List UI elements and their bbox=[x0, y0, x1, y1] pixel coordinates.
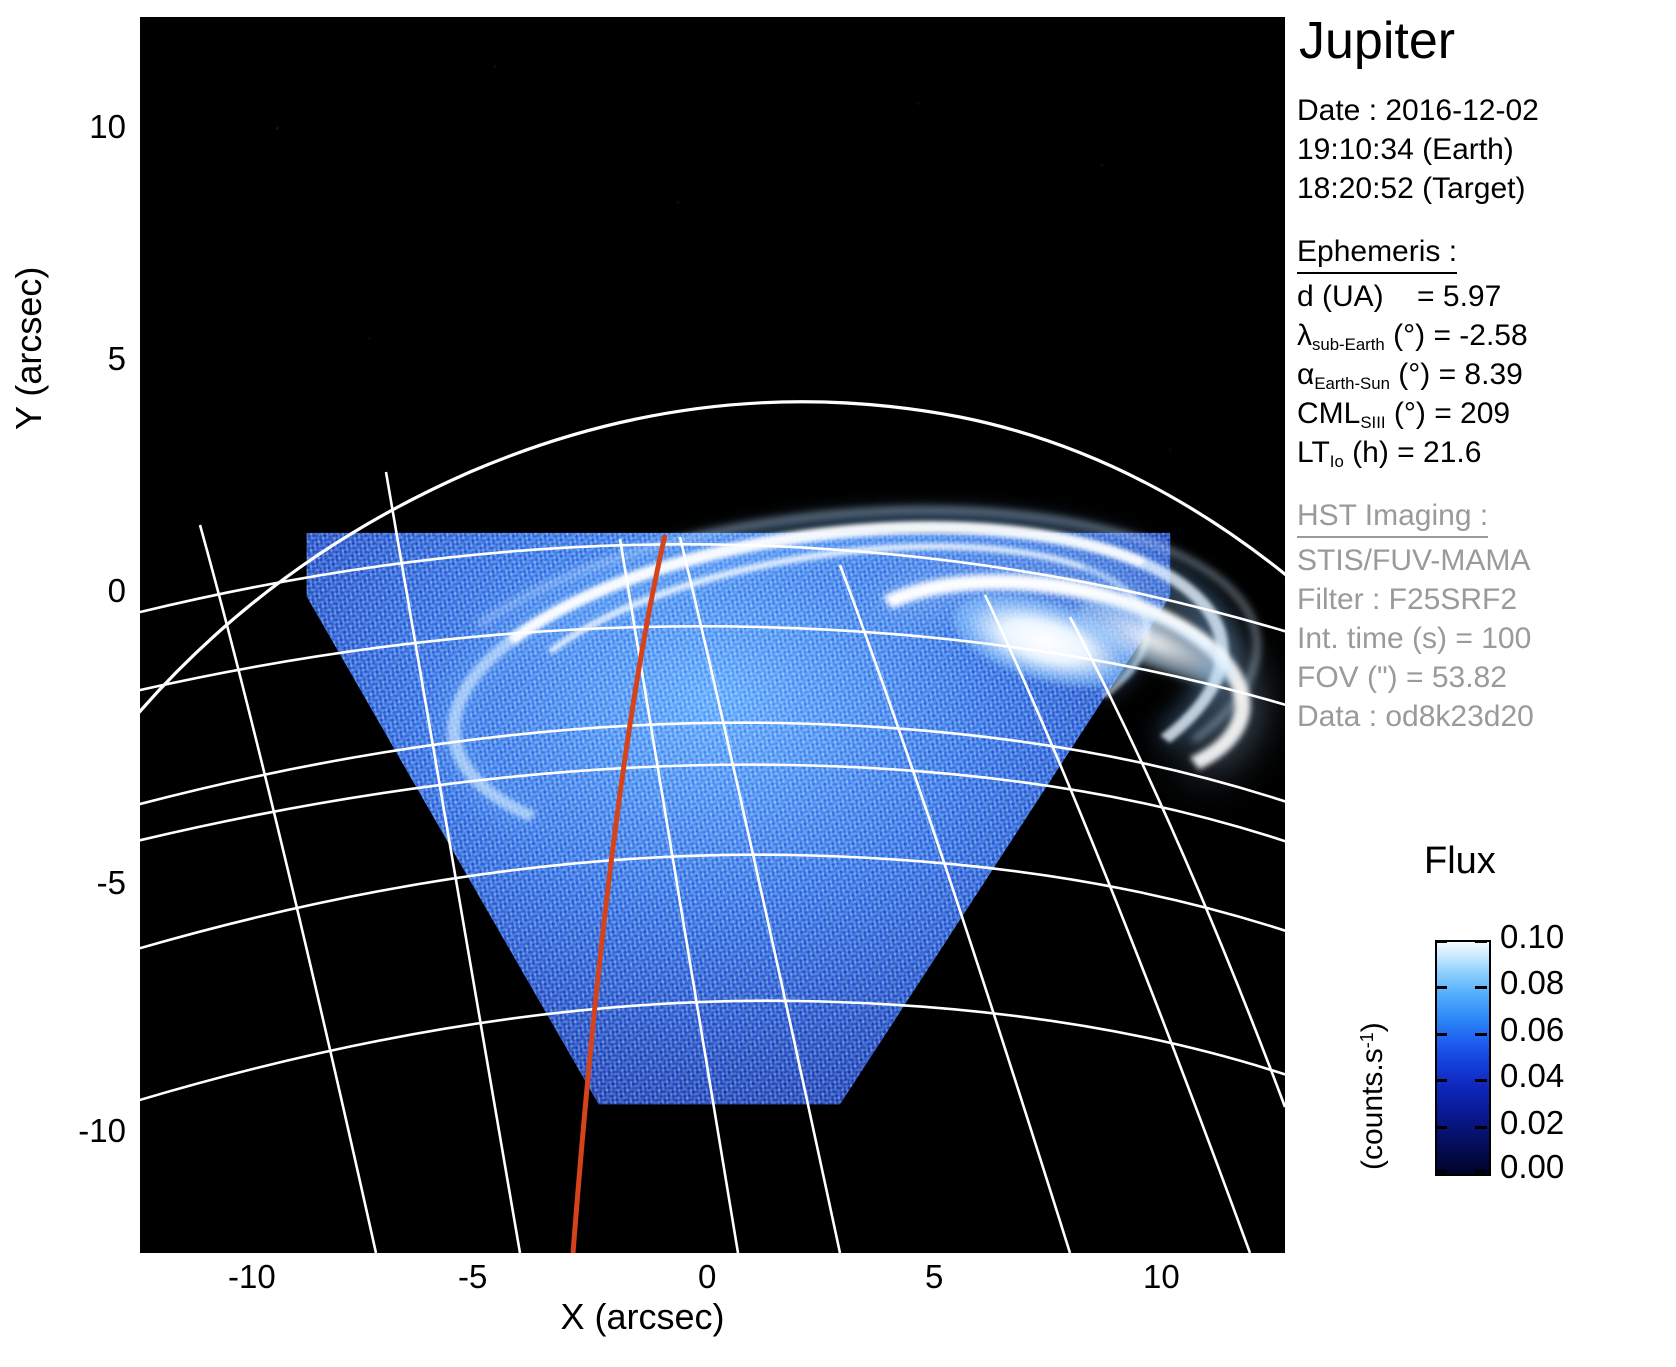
colorbar-tick-0.00: 0.00 bbox=[1500, 1148, 1564, 1186]
observation-time-target: 18:20:52 (Target) bbox=[1297, 169, 1676, 208]
lambda-value: = -2.58 bbox=[1433, 319, 1527, 352]
alpha-unit: (°) bbox=[1398, 358, 1430, 391]
colorbar-unit-prefix: (counts.s bbox=[1356, 1048, 1389, 1170]
flux-colorbar bbox=[1435, 940, 1491, 1176]
colorbar-unit-exponent: -1 bbox=[1357, 1032, 1377, 1048]
longitude-line-6 bbox=[985, 595, 1250, 1253]
alpha-subscript: Earth-Sun bbox=[1314, 374, 1390, 393]
longitude-line-7 bbox=[1070, 617, 1285, 1107]
instrument-fov: FOV (") = 53.82 bbox=[1297, 658, 1676, 697]
x-axis-title: X (arcsec) bbox=[0, 1296, 1285, 1338]
cml-subscript: SIII bbox=[1360, 413, 1385, 432]
instrument-dataset-id: Data : od8k23d20 bbox=[1297, 697, 1676, 736]
cml-value: = 209 bbox=[1434, 397, 1510, 430]
y-tick-label-m10: -10 bbox=[78, 1112, 126, 1150]
instrument-integration-time: Int. time (s) = 100 bbox=[1297, 619, 1676, 658]
latitude-longitude-graticule bbox=[140, 17, 1285, 1253]
ephemeris-cml: CMLSIII (°) = 209 bbox=[1297, 394, 1676, 433]
alpha-symbol: α bbox=[1297, 358, 1314, 391]
y-tick-label-0: 0 bbox=[108, 572, 126, 610]
latitude-line-6 bbox=[140, 765, 1285, 857]
colorbar-tick-0.02: 0.02 bbox=[1500, 1104, 1564, 1142]
y-tick-label-m5: -5 bbox=[97, 864, 126, 902]
planet-limb bbox=[140, 402, 1285, 787]
alpha-value: = 8.39 bbox=[1439, 358, 1523, 391]
colorbar-title: Flux bbox=[1424, 840, 1496, 883]
ephemeris-distance: d (UA) = 5.97 bbox=[1297, 277, 1676, 316]
colorbar-unit-label: (counts.s-1) bbox=[1356, 1022, 1390, 1170]
lt-unit: (h) bbox=[1352, 436, 1389, 469]
x-tick-label-0: 0 bbox=[698, 1258, 716, 1296]
ephemeris-distance-value: = 5.97 bbox=[1417, 280, 1501, 313]
longitude-line-3 bbox=[620, 539, 738, 1253]
ephemeris-distance-label: d (UA) bbox=[1297, 280, 1384, 313]
cml-unit: (°) bbox=[1394, 397, 1426, 430]
colorbar-tick-0.10: 0.10 bbox=[1500, 918, 1564, 956]
y-tick-label-5: 5 bbox=[108, 340, 126, 378]
lambda-subscript: sub-Earth bbox=[1312, 335, 1385, 354]
longitude-line-5 bbox=[840, 565, 1070, 1253]
colorbar-tick-0.04: 0.04 bbox=[1500, 1057, 1564, 1095]
ephemeris-phase-angle: αEarth-Sun (°) = 8.39 bbox=[1297, 355, 1676, 394]
lt-label: LT bbox=[1297, 436, 1330, 469]
observation-info-panel: Jupiter Date : 2016-12-02 19:10:34 (Eart… bbox=[1297, 14, 1676, 736]
ephemeris-sub-earth-latitude: λsub-Earth (°) = -2.58 bbox=[1297, 316, 1676, 355]
instrument-filter: Filter : F25SRF2 bbox=[1297, 580, 1676, 619]
lt-subscript: Io bbox=[1330, 452, 1344, 471]
latitude-line-4 bbox=[140, 855, 1285, 957]
lambda-symbol: λ bbox=[1297, 319, 1312, 352]
aurora-image-panel bbox=[140, 17, 1285, 1253]
colorbar-tick-0.06: 0.06 bbox=[1500, 1011, 1564, 1049]
observation-date: Date : 2016-12-02 bbox=[1297, 91, 1676, 130]
latitude-line-3 bbox=[140, 723, 1285, 817]
y-axis-title: Y (arcsec) bbox=[8, 267, 50, 430]
x-tick-label-5: 5 bbox=[925, 1258, 943, 1296]
x-tick-label-m5: -5 bbox=[458, 1258, 487, 1296]
observation-time-earth: 19:10:34 (Earth) bbox=[1297, 130, 1676, 169]
ephemeris-io-local-time: LTIo (h) = 21.6 bbox=[1297, 433, 1676, 472]
ephemeris-heading: Ephemeris : bbox=[1297, 232, 1457, 274]
lambda-unit: (°) bbox=[1393, 319, 1425, 352]
longitude-line-2 bbox=[386, 472, 520, 1253]
colorbar-tick-0.08: 0.08 bbox=[1500, 964, 1564, 1002]
cml-label: CML bbox=[1297, 397, 1360, 430]
target-title: Jupiter bbox=[1299, 14, 1676, 69]
x-tick-label-10: 10 bbox=[1143, 1258, 1180, 1296]
colorbar-unit-suffix: ) bbox=[1356, 1022, 1389, 1032]
x-tick-label-m10: -10 bbox=[228, 1258, 276, 1296]
longitude-line-4 bbox=[680, 537, 840, 1253]
io-footprint-track bbox=[573, 535, 665, 1253]
instrument-detector: STIS/FUV-MAMA bbox=[1297, 541, 1676, 580]
instrument-heading: HST Imaging : bbox=[1297, 496, 1488, 538]
lt-value: = 21.6 bbox=[1397, 436, 1481, 469]
y-tick-label-10: 10 bbox=[89, 108, 126, 146]
longitude-line-1 bbox=[200, 525, 376, 1253]
